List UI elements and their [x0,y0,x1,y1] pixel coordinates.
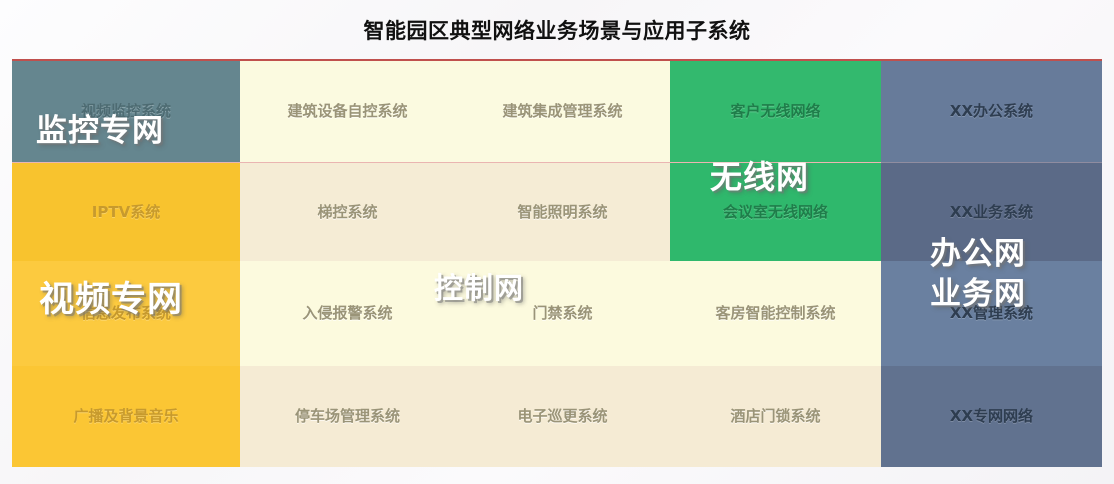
cell-video-monitoring-system[interactable]: 视频监控系统 [12,61,240,162]
page-title: 智能园区典型网络业务场景与应用子系统 [364,15,751,45]
cell-parking-management-system[interactable]: 停车场管理系统 [240,366,455,467]
cell-xx-private-network[interactable]: XX专网网络 [881,366,1102,467]
cell-hotel-door-lock-system[interactable]: 酒店门锁系统 [670,366,881,467]
cell-xx-management-system[interactable]: XX管理系统 [881,261,1102,366]
cell-intelligent-lighting-system[interactable]: 智能照明系统 [455,163,670,261]
cell-iptv-system[interactable]: IPTV系统 [12,163,240,261]
cell-intrusion-alarm-system[interactable]: 入侵报警系统 [240,261,455,366]
slide-canvas: 智能园区典型网络业务场景与应用子系统 视频监控系统 建筑设备自控系统 建筑集成管… [0,0,1114,484]
cell-access-control-system[interactable]: 门禁系统 [455,261,670,366]
system-matrix: 视频监控系统 建筑设备自控系统 建筑集成管理系统 客户无线网络 XX办公系统 I… [12,59,1102,467]
cell-elevator-control-system[interactable]: 梯控系统 [240,163,455,261]
cell-guest-wireless-network[interactable]: 客户无线网络 [670,61,881,162]
cell-xx-office-system[interactable]: XX办公系统 [881,61,1102,162]
cell-electronic-patrol-system[interactable]: 电子巡更系统 [455,366,670,467]
cell-meeting-room-wireless-network[interactable]: 会议室无线网络 [670,163,881,261]
cell-information-release-system[interactable]: 信息发布系统 [12,261,240,366]
cell-broadcast-background-music[interactable]: 广播及背景音乐 [12,366,240,467]
cell-xx-business-system[interactable]: XX业务系统 [881,163,1102,261]
cell-building-integration-management-system[interactable]: 建筑集成管理系统 [455,61,670,162]
page-title-bar: 智能园区典型网络业务场景与应用子系统 [0,0,1114,59]
cell-building-automation-system[interactable]: 建筑设备自控系统 [240,61,455,162]
cell-guestroom-intelligent-control-system[interactable]: 客房智能控制系统 [670,261,881,366]
